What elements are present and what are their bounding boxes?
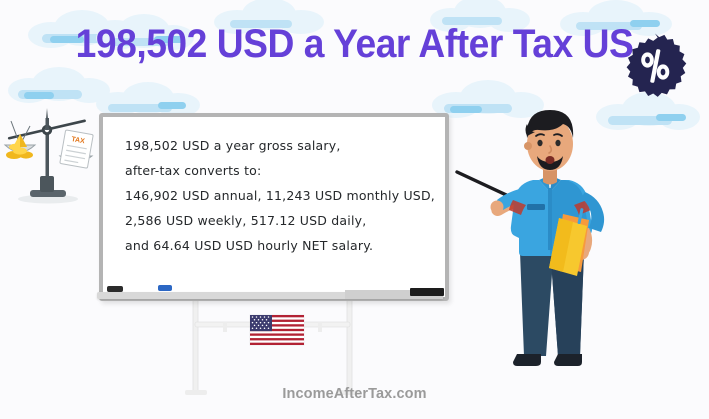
blue-marker-icon [158, 285, 172, 291]
site-footer: IncomeAfterTax.com [0, 386, 709, 402]
salary-infographic-page: 198,502 USD a Year After Tax US [0, 0, 709, 419]
presenter-illustration [455, 96, 645, 376]
whiteboard-line: and 64.64 USD USD hourly NET salary. [125, 233, 433, 258]
whiteboard-line: 2,586 USD weekly, 517.12 USD daily, [125, 208, 433, 233]
percent-badge-starburst [622, 32, 688, 98]
percent-badge [622, 32, 688, 98]
black-marker-icon [107, 286, 123, 292]
eraser-icon [410, 288, 444, 296]
whiteboard-line: after-tax converts to: [125, 158, 433, 183]
balance-scale-icon: TAX [2, 104, 110, 204]
us-flag-icon [250, 315, 304, 345]
whiteboard-text-block: 198,502 USD a year gross salary, after-t… [125, 133, 433, 258]
whiteboard-line: 198,502 USD a year gross salary, [125, 133, 433, 158]
salary-breakdown-whiteboard: 198,502 USD a year gross salary, after-t… [99, 113, 449, 301]
tax-document: TAX [60, 130, 93, 168]
whiteboard-line: 146,902 USD annual, 11,243 USD monthly U… [125, 183, 433, 208]
whiteboard-stand [185, 296, 360, 396]
cloud-decoration [8, 66, 110, 104]
page-title: 198,502 USD a Year After Tax US [25, 22, 684, 67]
